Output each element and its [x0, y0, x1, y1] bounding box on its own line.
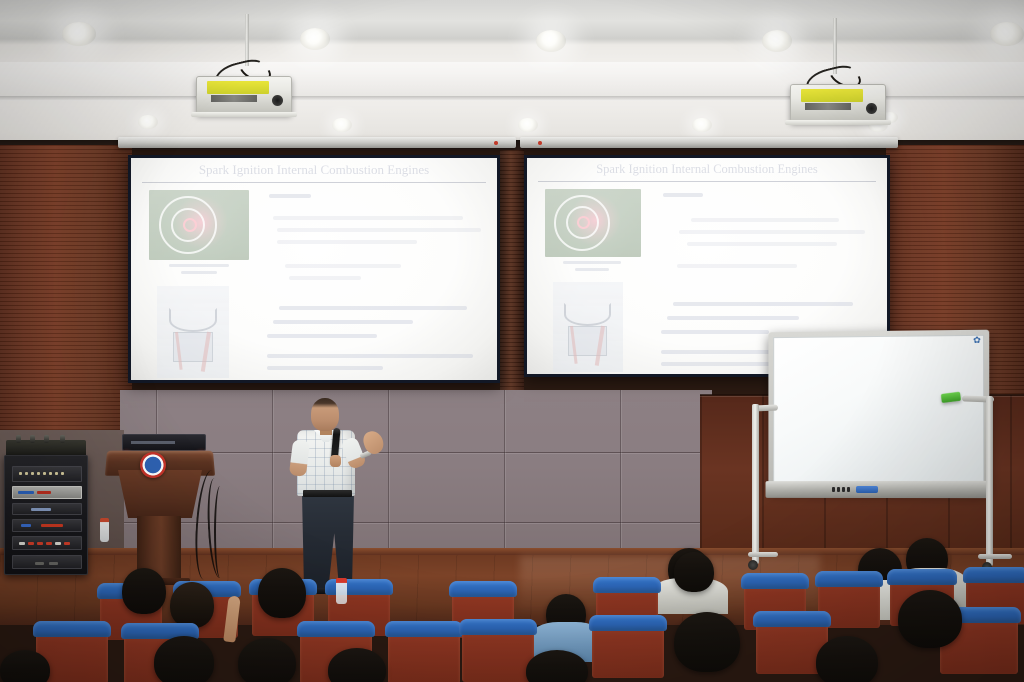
whiteboard-stand-leg	[986, 396, 993, 566]
slide-title: Spark Ignition Internal Combustion Engin…	[146, 162, 483, 178]
figure-subcaption	[575, 268, 609, 271]
ceiling-downlight	[762, 30, 792, 52]
seat-headrest	[385, 621, 463, 637]
audience-head	[0, 650, 50, 682]
rack-knob	[30, 435, 35, 443]
slide-body-line	[673, 302, 853, 306]
rack-unit-mixer[interactable]	[12, 466, 82, 482]
engine-diagram-image	[545, 189, 641, 257]
projector-vent	[805, 103, 851, 110]
figure-caption	[563, 261, 621, 264]
marker[interactable]	[837, 487, 840, 492]
rack-led	[37, 472, 40, 475]
slide-body-line	[661, 330, 769, 334]
whiteboard-surface[interactable]	[773, 335, 984, 487]
whiteboard-brand-icon: ✿	[972, 335, 982, 346]
seat-headrest	[753, 611, 831, 627]
projector-screen-housing	[520, 137, 898, 148]
slide-title-rule	[142, 182, 486, 183]
rack-led	[21, 524, 31, 527]
side-wall-wood-left	[0, 145, 132, 445]
audience-head	[170, 582, 214, 628]
water-bottle	[336, 578, 347, 604]
seat-headrest	[449, 581, 517, 597]
rack-unit-controller[interactable]	[12, 536, 82, 550]
marker[interactable]	[842, 487, 845, 492]
figure-caption	[169, 264, 229, 267]
whiteboard-foot-bar	[748, 552, 778, 557]
whiteboard-markers[interactable]	[832, 487, 850, 492]
rack-led	[41, 524, 63, 527]
seat-headrest	[297, 621, 375, 637]
slide-body-line	[273, 320, 413, 324]
projector-label	[207, 81, 269, 94]
slide-body-line	[687, 242, 837, 246]
rack-unit-blank	[12, 555, 82, 569]
piston-diagram-image	[553, 282, 623, 372]
ceiling-downlight	[332, 118, 352, 132]
blue-marker[interactable]	[856, 486, 878, 493]
projector-label	[801, 89, 863, 102]
ceiling-downlight	[990, 22, 1024, 46]
projector-base-plate	[191, 112, 297, 117]
slide-body-line	[679, 230, 865, 234]
housing-indicator	[494, 141, 498, 145]
audience-head	[122, 568, 166, 614]
presenter-belt	[303, 490, 352, 497]
whiteboard-foot-bar	[978, 554, 1012, 559]
projector-lens-icon	[272, 95, 283, 106]
rack-led	[55, 472, 58, 475]
slide-body-line	[677, 264, 797, 268]
slide-body-line	[267, 366, 383, 370]
piston-bowl	[564, 303, 611, 326]
center-column-wood	[500, 150, 524, 390]
presenter-legs	[302, 494, 354, 592]
slide-body-line	[289, 276, 361, 280]
piston-diagram-image	[157, 286, 229, 378]
piston-bowl	[169, 308, 217, 332]
audience-head	[816, 636, 878, 682]
projector-base-plate	[785, 120, 891, 125]
slide-body-line	[277, 240, 417, 244]
figure-subcaption	[181, 271, 217, 274]
presenter-hand-holding-mic	[330, 455, 341, 467]
seat-headrest	[593, 577, 661, 593]
rack-led	[35, 562, 44, 565]
seat-headrest	[459, 619, 537, 635]
seat-headrest	[887, 569, 957, 585]
whiteboard-caster-wheel	[748, 560, 758, 570]
rack-led	[55, 542, 61, 545]
engine-ring	[577, 216, 590, 229]
ceiling-downlight	[300, 28, 330, 50]
ceiling-downlight	[62, 22, 96, 46]
slide-body-line	[691, 218, 839, 222]
rack-unit-amp[interactable]	[12, 503, 82, 515]
projector-vent	[211, 95, 257, 102]
rack-led	[64, 542, 70, 545]
rack-led	[28, 542, 34, 545]
rack-led	[46, 542, 52, 545]
whiteboard-pen-tray	[766, 481, 993, 498]
slide-body-line	[661, 362, 773, 366]
rack-led	[37, 491, 51, 494]
rack-led	[31, 472, 34, 475]
audience-head	[674, 612, 740, 672]
rack-led	[37, 542, 43, 545]
whiteboard[interactable]: ✿	[768, 330, 989, 493]
slide-title-rule	[538, 181, 876, 182]
audience-head	[154, 636, 214, 682]
floor-cable	[214, 486, 226, 578]
slide-body-line	[279, 306, 467, 310]
ceiling-downlight	[536, 30, 566, 52]
slide-body-line	[269, 194, 311, 198]
rack-led	[49, 562, 58, 565]
projector-screen-housing	[118, 137, 516, 148]
marker[interactable]	[847, 487, 850, 492]
slide-body-line	[267, 354, 473, 358]
presenter-head	[311, 398, 339, 431]
lecture-hall-photo: Spark Ignition Internal Combustion Engin…	[0, 0, 1024, 682]
lectern-front-panel	[118, 470, 202, 518]
auditorium-seat[interactable]	[388, 628, 460, 682]
rack-led	[19, 472, 22, 475]
slide-body-line	[285, 264, 401, 268]
podium-monitor[interactable]	[122, 434, 206, 451]
projector-lens-icon	[866, 103, 877, 114]
ceiling-downlight	[138, 115, 158, 129]
engine-diagram-image	[149, 190, 249, 260]
seat-headrest	[33, 621, 111, 637]
slide-title: Spark Ignition Internal Combustion Engin…	[541, 162, 872, 177]
bottle	[100, 518, 109, 542]
whiteboard-stand-leg	[752, 404, 759, 564]
left-projection-screen[interactable]: Spark Ignition Internal Combustion Engin…	[128, 155, 500, 383]
rack-unit-tuner[interactable]	[12, 519, 82, 532]
av-equipment-rack[interactable]	[4, 455, 88, 575]
ceiling-downlight	[518, 118, 538, 132]
rack-led	[18, 491, 34, 494]
auditorium-seat[interactable]	[462, 626, 534, 682]
rack-led	[31, 508, 51, 511]
audience-head	[674, 552, 714, 592]
slide-body-line	[667, 316, 799, 320]
rack-unit-player[interactable]	[12, 486, 82, 499]
ceiling-downlight	[692, 118, 712, 132]
seat-headrest	[963, 567, 1024, 583]
marker[interactable]	[832, 487, 835, 492]
audience-head	[328, 648, 386, 682]
slide-body-line	[273, 216, 463, 220]
left-screen-surface: Spark Ignition Internal Combustion Engin…	[131, 158, 497, 380]
rack-knob	[44, 435, 49, 443]
seat-headrest	[815, 571, 883, 587]
seat-headrest	[741, 573, 809, 589]
university-crest-icon	[140, 452, 166, 478]
engine-ring	[183, 218, 197, 232]
rack-led	[43, 472, 46, 475]
seat-headrest	[589, 615, 667, 631]
audience-head	[238, 638, 296, 682]
rack-led	[19, 542, 25, 545]
ceiling-projector	[790, 84, 886, 122]
rack-led	[49, 472, 52, 475]
monitor-screen-glow	[131, 441, 175, 444]
audience-head	[898, 590, 962, 648]
slide-body-line	[277, 228, 481, 232]
housing-indicator	[538, 141, 542, 145]
rack-led	[25, 472, 28, 475]
rack-led	[61, 472, 64, 475]
ceiling-projector	[196, 76, 292, 114]
rack-knob	[16, 435, 21, 443]
auditorium-seat[interactable]	[592, 622, 664, 678]
rack-knob	[60, 435, 65, 443]
slide-body-line	[267, 334, 377, 338]
audience-head	[258, 568, 306, 618]
slide-body-line	[663, 193, 703, 197]
